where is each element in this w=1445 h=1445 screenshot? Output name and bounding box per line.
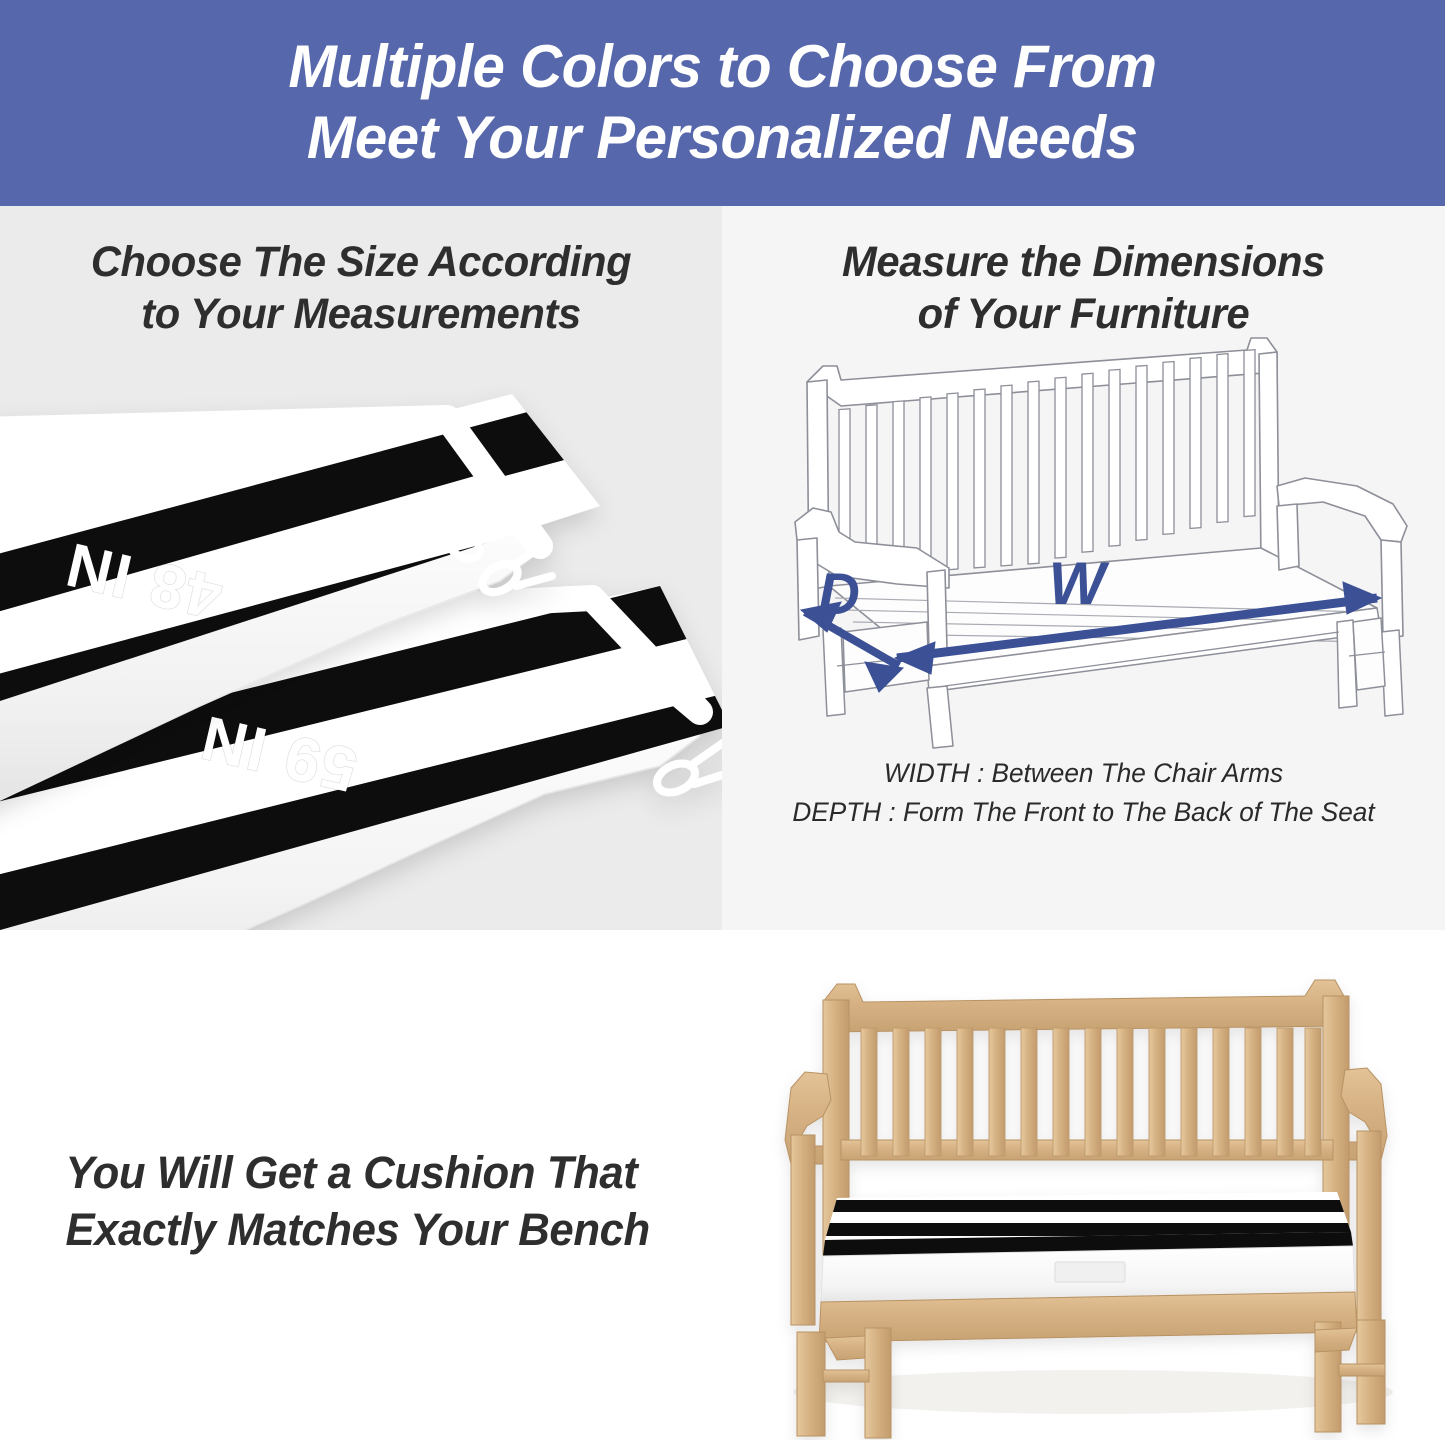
panel-right-title: Measure the Dimensions of Your Furniture xyxy=(733,236,1434,341)
bottom-title: You Will Get a Cushion That Exactly Matc… xyxy=(66,1145,745,1258)
caption-width: WIDTH : Between The Chair Arms xyxy=(733,754,1434,793)
panel-left-title-line-1: Choose The Size According xyxy=(11,236,711,288)
middle-section: 59 IN xyxy=(0,206,1445,930)
bench-line-drawing: W D xyxy=(777,336,1417,756)
depth-label: D xyxy=(818,562,860,627)
header-title-line-1: Multiple Colors to Choose From xyxy=(288,32,1156,103)
bottom-section: You Will Get a Cushion That Exactly Matc… xyxy=(0,930,1445,1445)
bottom-title-line-2: Exactly Matches Your Bench xyxy=(66,1202,745,1259)
panel-measure-dimensions: Measure the Dimensions of Your Furniture xyxy=(722,206,1445,930)
header-banner: Multiple Colors to Choose From Meet Your… xyxy=(0,0,1445,206)
panel-left-title: Choose The Size According to Your Measur… xyxy=(11,236,711,341)
bench-cushion xyxy=(805,1190,1365,1302)
panel-choose-size: 59 IN xyxy=(0,206,722,930)
bottom-title-line-1: You Will Get a Cushion That xyxy=(66,1145,745,1202)
wooden-bench-with-cushion xyxy=(745,940,1435,1440)
panel-right-title-line-1: Measure the Dimensions xyxy=(733,236,1434,288)
width-label: W xyxy=(1049,550,1110,617)
right-panel-caption: WIDTH : Between The Chair Arms DEPTH : F… xyxy=(733,754,1434,832)
panel-left-title-line-2: to Your Measurements xyxy=(11,288,711,340)
caption-depth: DEPTH : Form The Front to The Back of Th… xyxy=(733,793,1434,832)
panel-right-title-line-2: of Your Furniture xyxy=(733,288,1434,340)
header-title-line-2: Meet Your Personalized Needs xyxy=(307,103,1138,174)
cushion-label-tab xyxy=(1055,1262,1125,1282)
